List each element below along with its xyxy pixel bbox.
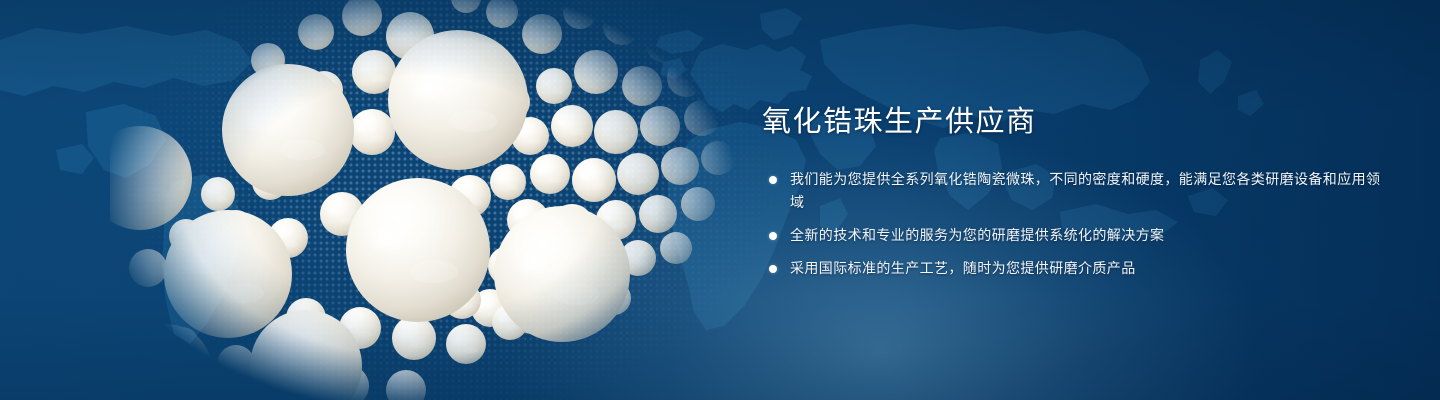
list-item-label: 我们能为您提供全系列氧化锆陶瓷微珠，不同的密度和硬度，能满足您各类研磨设备和应用…: [790, 168, 1382, 214]
list-item-label: 采用国际标准的生产工艺，随时为您提供研磨介质产品: [790, 257, 1382, 280]
banner-content: 氧化锆珠生产供应商 我们能为您提供全系列氧化锆陶瓷微珠，不同的密度和硬度，能满足…: [762, 105, 1382, 280]
hero-banner: 氧化锆珠生产供应商 我们能为您提供全系列氧化锆陶瓷微珠，不同的密度和硬度，能满足…: [0, 0, 1440, 400]
zirconia-beads-image: [110, 0, 750, 400]
banner-feature-list: 我们能为您提供全系列氧化锆陶瓷微珠，不同的密度和硬度，能满足您各类研磨设备和应用…: [762, 168, 1382, 280]
banner-title: 氧化锆珠生产供应商: [762, 105, 1382, 140]
list-item: 全新的技术和专业的服务为您的研磨提供系统化的解决方案: [762, 224, 1382, 247]
list-item: 采用国际标准的生产工艺，随时为您提供研磨介质产品: [762, 257, 1382, 280]
bullet-dot-icon: [769, 176, 777, 184]
list-item: 我们能为您提供全系列氧化锆陶瓷微珠，不同的密度和硬度，能满足您各类研磨设备和应用…: [762, 168, 1382, 214]
list-item-label: 全新的技术和专业的服务为您的研磨提供系统化的解决方案: [790, 224, 1382, 247]
bullet-dot-icon: [769, 232, 777, 240]
bullet-dot-icon: [769, 265, 777, 273]
